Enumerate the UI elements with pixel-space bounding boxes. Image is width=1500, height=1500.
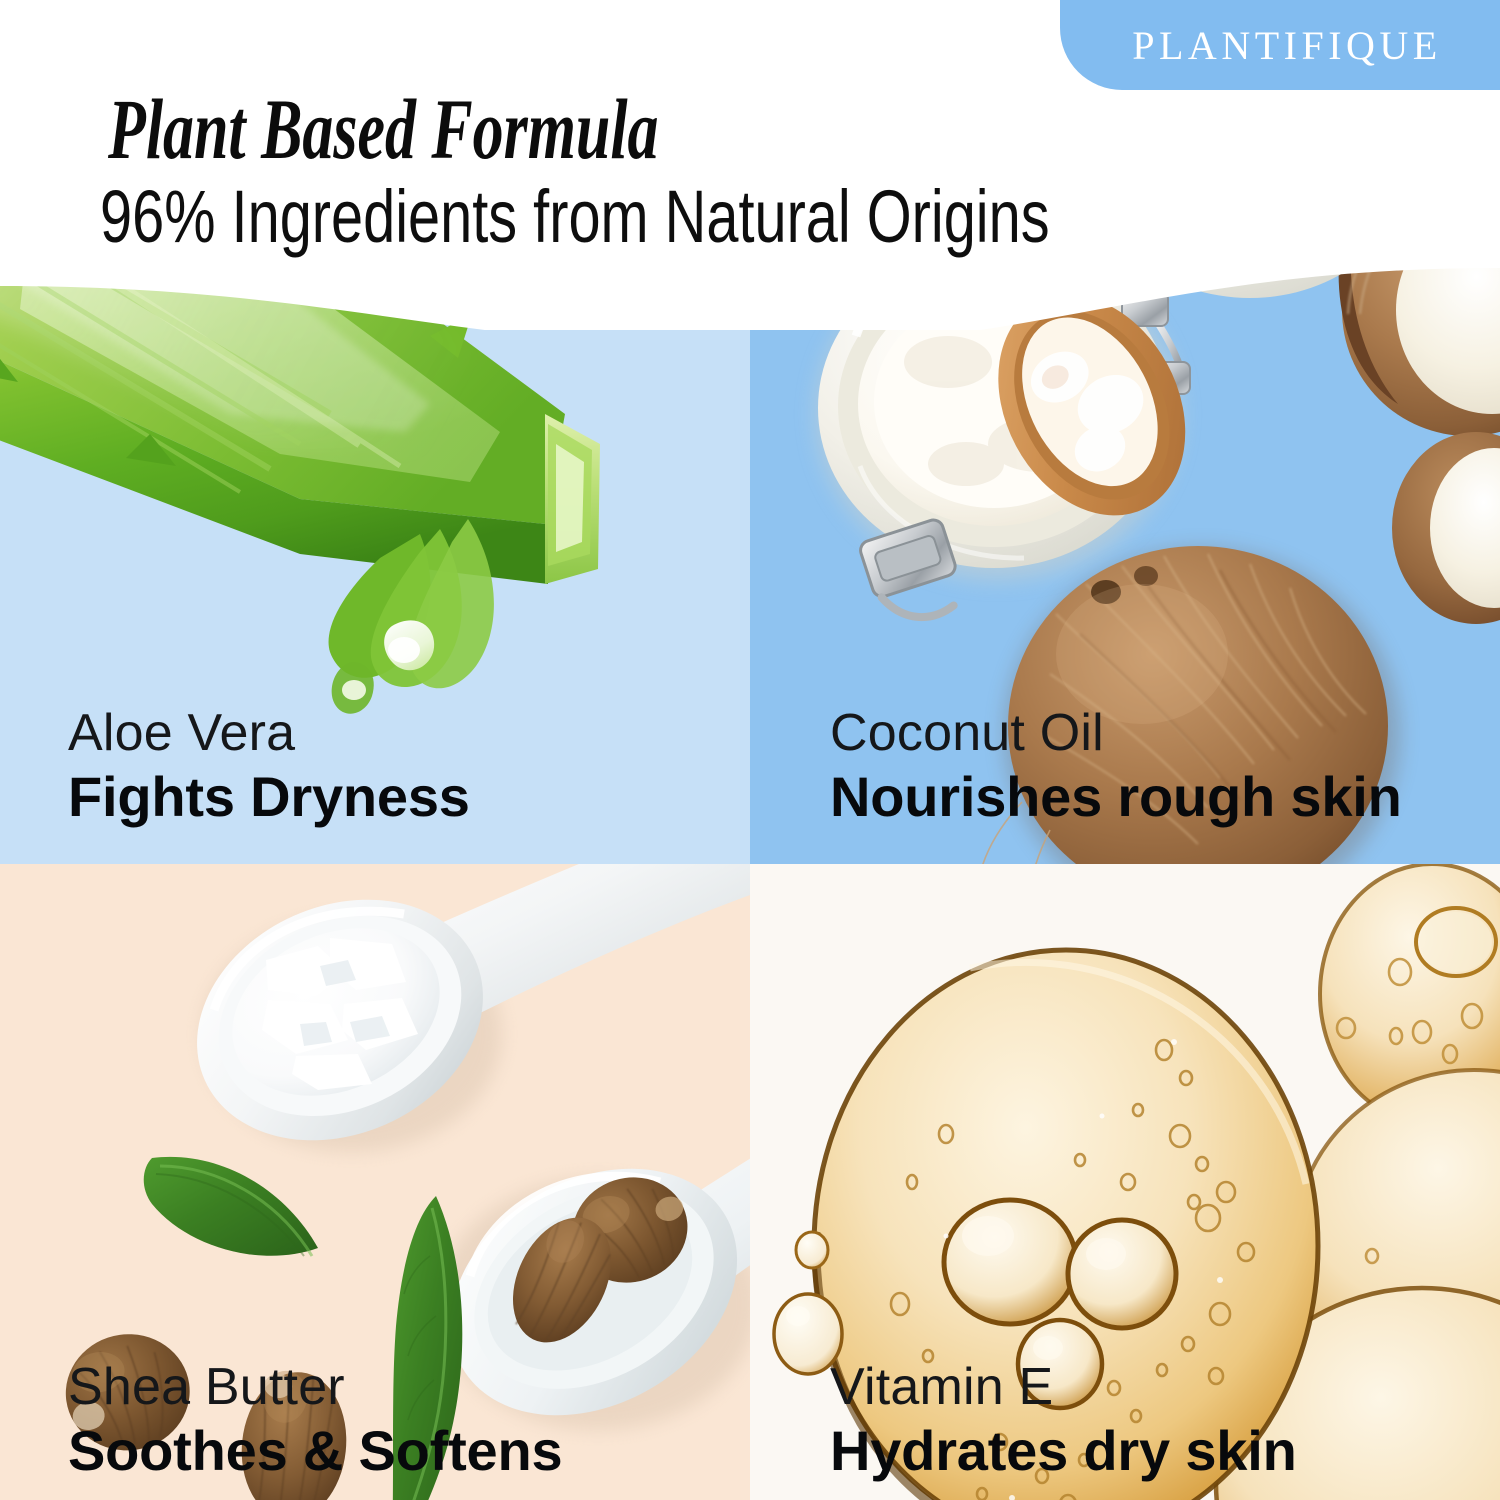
caption-aloe-vera: Aloe Vera Fights Dryness: [68, 706, 470, 826]
ingredient-benefit-shea-butter: Soothes & Softens: [68, 1421, 562, 1480]
ingredient-benefit-coconut-oil: Nourishes rough skin: [830, 767, 1402, 826]
ingredient-benefit-vitamin-e: Hydrates dry skin: [830, 1421, 1297, 1480]
caption-coconut-oil: Coconut Oil Nourishes rough skin: [830, 706, 1402, 826]
page-subtitle: 96% Ingredients from Natural Origins: [100, 180, 1050, 254]
ingredient-name-coconut-oil: Coconut Oil: [830, 706, 1402, 761]
header: PLANTIFIQUE Plant Based Formula 96% Ingr…: [0, 0, 1500, 300]
caption-shea-butter: Shea Butter Soothes & Softens: [68, 1360, 562, 1480]
ingredient-name-vitamin-e: Vitamin E: [830, 1360, 1297, 1415]
brand-badge: PLANTIFIQUE: [1060, 0, 1500, 90]
brand-name: PLANTIFIQUE: [1118, 22, 1441, 69]
ingredient-name-aloe-vera: Aloe Vera: [68, 706, 470, 761]
ingredient-benefit-aloe-vera: Fights Dryness: [68, 767, 470, 826]
page-title: Plant Based Formula: [108, 86, 659, 172]
ingredient-name-shea-butter: Shea Butter: [68, 1360, 562, 1415]
product-benefits-infographic: PLANTIFIQUE Plant Based Formula 96% Ingr…: [0, 0, 1500, 1500]
caption-vitamin-e: Vitamin E Hydrates dry skin: [830, 1360, 1297, 1480]
